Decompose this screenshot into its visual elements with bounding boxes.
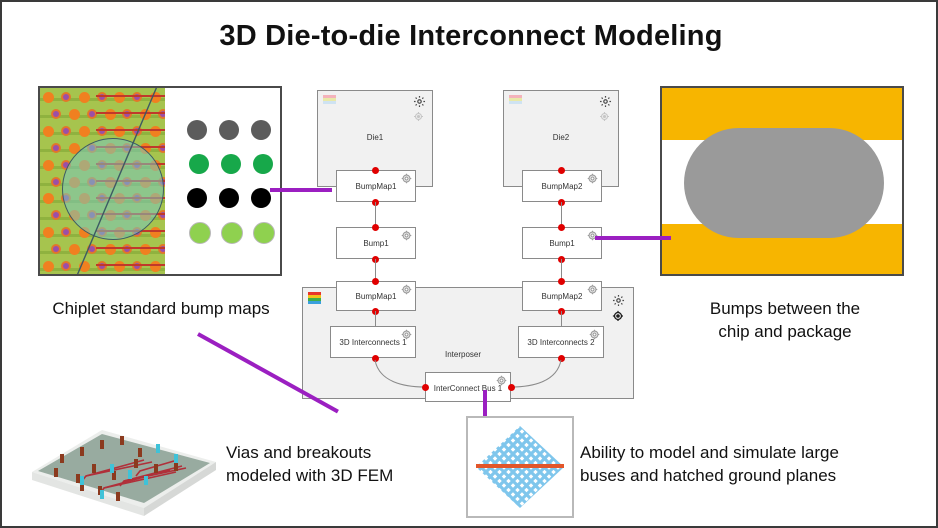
wire xyxy=(375,311,376,326)
legend-bump-dot xyxy=(187,188,207,208)
stacked-layers-icon xyxy=(308,292,321,304)
connector-bumpmap-image xyxy=(270,188,332,192)
block-bumpmap2-bottom[interactable]: BumpMap2 xyxy=(522,281,602,311)
block-bump1-left[interactable]: Bump1 xyxy=(336,227,416,259)
hatched-ground-plane-image xyxy=(466,416,574,518)
gear-icon[interactable] xyxy=(599,95,612,108)
block-label-die2: Die2 xyxy=(504,133,618,142)
block-label-bumpmap1-top: BumpMap1 xyxy=(337,182,415,191)
port-dot xyxy=(558,224,565,231)
gear-icon[interactable] xyxy=(413,95,426,108)
legend-bump-dot xyxy=(219,188,239,208)
gear-icon[interactable] xyxy=(612,294,625,307)
section-line xyxy=(40,88,165,274)
block-label-interposer: Interposer xyxy=(403,350,523,359)
caption-fem-line1: Vias and breakouts xyxy=(226,442,466,463)
port-dot xyxy=(372,167,379,174)
block-label-bumpmap2-top: BumpMap2 xyxy=(523,182,601,191)
block-bumpmap2-top[interactable]: BumpMap2 xyxy=(522,170,602,202)
legend-bump-dot xyxy=(251,120,271,140)
connector-bumps-image xyxy=(595,236,671,240)
stacked-layers-icon xyxy=(509,95,522,107)
caption-bumps-line2: chip and package xyxy=(640,321,930,342)
slide-root: 3D Die-to-die Interconnect Modeling Chip… xyxy=(0,0,938,528)
solder-bump-shape xyxy=(684,128,884,238)
wire xyxy=(561,311,562,326)
block-label-bump1-right: Bump1 xyxy=(523,239,601,248)
block-label-bumpmap1-bottom: BumpMap1 xyxy=(337,292,415,301)
gear-dark-icon[interactable] xyxy=(612,310,624,322)
legend-bump-dot xyxy=(221,154,241,174)
legend-bump-dot xyxy=(189,154,209,174)
block-bumpmap1-bottom[interactable]: BumpMap1 xyxy=(336,281,416,311)
port-dot xyxy=(558,278,565,285)
caption-hatch-line1: Ability to model and simulate large xyxy=(580,442,910,463)
port-dot xyxy=(558,355,565,362)
block-3d-interconnects-2[interactable]: 3D Interconnects 2 xyxy=(518,326,604,358)
block-label-bumpmap2-bottom: BumpMap2 xyxy=(523,292,601,301)
legend-bump-dot xyxy=(189,222,211,244)
block-bump1-right[interactable]: Bump1 xyxy=(522,227,602,259)
gear-faded-icon[interactable] xyxy=(413,111,424,122)
block-label-interconnect-bus-1: InterConnect Bus 1 xyxy=(426,384,510,393)
fem-via-breakout-image xyxy=(24,414,224,518)
block-bumpmap1-top[interactable]: BumpMap1 xyxy=(336,170,416,202)
port-dot xyxy=(372,278,379,285)
page-title: 3D Die-to-die Interconnect Modeling xyxy=(2,20,938,53)
block-label-die1: Die1 xyxy=(318,133,432,142)
legend-bump-dot xyxy=(253,154,273,174)
caption-bump-maps: Chiplet standard bump maps xyxy=(16,298,306,319)
legend-bump-dot xyxy=(251,188,271,208)
port-dot xyxy=(422,384,429,391)
port-dot xyxy=(508,384,515,391)
chiplet-bumpmap-image xyxy=(38,86,282,276)
block-label-3d-interconnects-2: 3D Interconnects 2 xyxy=(519,338,603,347)
legend-bump-dot xyxy=(219,120,239,140)
port-dot xyxy=(372,355,379,362)
block-3d-interconnects-1[interactable]: 3D Interconnects 1 xyxy=(330,326,416,358)
port-dot xyxy=(558,167,565,174)
hatch-mesh xyxy=(468,418,572,516)
connector-hatch-image xyxy=(483,390,487,418)
block-label-bump1-left: Bump1 xyxy=(337,239,415,248)
bumpmap-legend-area xyxy=(165,88,280,274)
stacked-layers-icon xyxy=(323,95,336,107)
gear-faded-icon[interactable] xyxy=(599,111,610,122)
block-label-3d-interconnects-1: 3D Interconnects 1 xyxy=(331,338,415,347)
bumps-chip-package-image xyxy=(660,86,904,276)
pcb-bump-field xyxy=(40,88,165,274)
legend-bump-dot xyxy=(253,222,275,244)
caption-hatch-line2: buses and hatched ground planes xyxy=(580,465,910,486)
interconnect-schematic: Die1 Die2 xyxy=(294,82,642,412)
caption-fem-line2: modeled with 3D FEM xyxy=(226,465,476,486)
port-dot xyxy=(372,224,379,231)
block-interconnect-bus-1[interactable]: InterConnect Bus 1 xyxy=(425,372,511,402)
caption-bumps-line1: Bumps between the xyxy=(640,298,930,319)
legend-bump-dot xyxy=(221,222,243,244)
legend-bump-dot xyxy=(187,120,207,140)
